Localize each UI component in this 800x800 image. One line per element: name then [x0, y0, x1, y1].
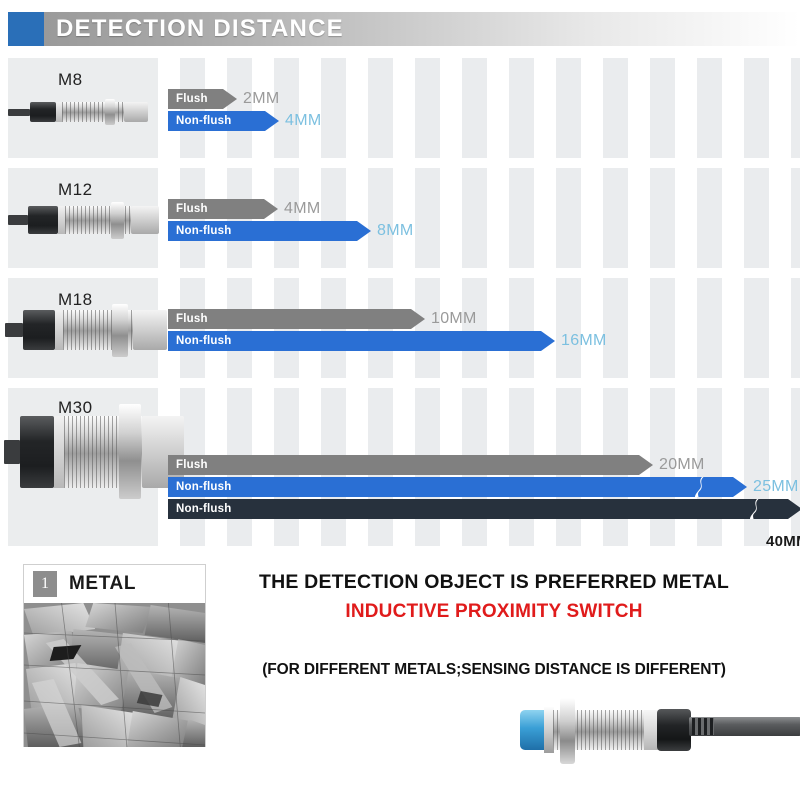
bar-label: Non-flush — [176, 499, 231, 519]
bar-label: Flush — [176, 199, 208, 219]
sensor-collar — [55, 310, 63, 350]
bar-value-m18-blue: 16MM — [561, 332, 607, 350]
sensor-cable — [5, 323, 23, 337]
sensor-face — [520, 710, 546, 750]
sensor-cable-grip — [692, 718, 714, 735]
distance-chart: M8Flush2MMNon-flush4MMM12Flush4MMNon-flu… — [0, 58, 800, 548]
bar-label: Non-flush — [176, 221, 231, 241]
bar-label: Non-flush — [176, 111, 231, 131]
metal-card-number-badge: 1 — [33, 571, 57, 597]
sensor-face — [131, 206, 159, 234]
bar-label: Flush — [176, 309, 208, 329]
sensor-rear-cap — [30, 102, 56, 122]
sensor-collar — [54, 416, 64, 488]
bar-value-m12-gray: 4MM — [284, 200, 320, 218]
chart-row-m8: M8Flush2MMNon-flush4MM — [0, 58, 800, 158]
sensor-rear-cap — [23, 310, 55, 350]
bottom-section: 1 METAL — [0, 552, 800, 800]
sensor-illustration-m8 — [8, 102, 158, 122]
note-text: (FOR DIFFERENT METALS;SENSING DISTANCE I… — [214, 661, 774, 679]
subhead-text: INDUCTIVE PROXIMITY SWITCH — [214, 601, 774, 623]
bar-arrowhead — [357, 221, 371, 241]
bar-label: Flush — [176, 455, 208, 475]
sensor-mounting-nut — [112, 304, 128, 357]
sensor-face — [133, 310, 167, 350]
bar-value-m8-gray: 2MM — [243, 90, 279, 108]
sensor-cable — [8, 109, 30, 116]
bar-m8-gray: Flush — [168, 89, 237, 109]
header-accent-block — [8, 12, 44, 46]
bar-arrowhead — [265, 111, 279, 131]
bar-m18-gray: Flush — [168, 309, 425, 329]
bar-arrowhead — [639, 455, 653, 475]
bar-m12-gray: Flush — [168, 199, 278, 219]
sensor-cable — [4, 440, 20, 464]
sensor-collar — [58, 206, 65, 234]
sensor-illustration-m12 — [8, 206, 158, 234]
bar-arrowhead — [733, 477, 747, 497]
sensor-illustration-m30 — [4, 416, 154, 488]
sensor-mounting-nut — [119, 404, 141, 499]
bar-value-m18-gray: 10MM — [431, 310, 477, 328]
bar-arrowhead — [411, 309, 425, 329]
scrap-metal-photo — [24, 603, 205, 747]
bar-label: Non-flush — [176, 331, 231, 351]
detection-distance-infographic: DETECTION DISTANCE M8Flush2MMNon-flush4M… — [0, 0, 800, 800]
bar-value-m30-blue: 25MM — [753, 478, 799, 496]
row-stripe-background — [158, 58, 800, 158]
metal-card-header: 1 METAL — [24, 565, 205, 603]
bar-m30-gray: Flush — [168, 455, 653, 475]
size-label-m18: M18 — [58, 290, 93, 310]
metal-card: 1 METAL — [23, 564, 206, 747]
sensor-mounting-nut — [111, 202, 124, 239]
bar-arrowhead — [223, 89, 237, 109]
bar-m30-dark: Non-flush — [168, 499, 800, 519]
bar-value-m30-dark: 40MM — [766, 533, 800, 550]
bar-shaft — [168, 499, 788, 519]
sensor-rear-cap — [28, 206, 58, 234]
sensor-collar — [644, 710, 658, 750]
sensor-rear-cap — [20, 416, 54, 488]
bar-label: Flush — [176, 89, 208, 109]
bar-m8-blue: Non-flush — [168, 111, 279, 131]
sensor-cable — [8, 215, 28, 225]
chart-row-m18: M18Flush10MMNon-flush16MM — [0, 278, 800, 378]
bar-arrowhead — [264, 199, 278, 219]
size-label-m30: M30 — [58, 398, 93, 418]
metal-card-label: METAL — [69, 573, 136, 595]
bar-m30-blue: Non-flush — [168, 477, 747, 497]
sensor-mounting-nut — [105, 99, 115, 125]
sensor-face — [124, 102, 148, 122]
bar-value-m8-blue: 4MM — [285, 112, 321, 130]
sensor-rear-cap — [657, 709, 691, 751]
bar-arrowhead — [788, 499, 800, 519]
page-title: DETECTION DISTANCE — [56, 12, 344, 46]
bar-m12-blue: Non-flush — [168, 221, 371, 241]
size-label-m12: M12 — [58, 180, 93, 200]
bar-value-m12-blue: 8MM — [377, 222, 413, 240]
chart-row-m30: M30Flush20MMNon-flush25MMNon-flush40MM — [0, 388, 800, 546]
size-label-m8: M8 — [58, 70, 83, 90]
chart-row-m12: M12Flush4MMNon-flush8MM — [0, 168, 800, 268]
bar-shaft — [168, 455, 639, 475]
sensor-mounting-nut — [560, 698, 575, 764]
bar-label: Non-flush — [176, 477, 231, 497]
sensor-illustration-m18 — [5, 310, 155, 350]
bar-value-m30-gray: 20MM — [659, 456, 705, 474]
headline-text: THE DETECTION OBJECT IS PREFERRED METAL — [214, 571, 774, 594]
bar-shaft — [168, 477, 733, 497]
page-header: DETECTION DISTANCE — [0, 12, 800, 46]
bar-m18-blue: Non-flush — [168, 331, 555, 351]
bar-arrowhead — [541, 331, 555, 351]
